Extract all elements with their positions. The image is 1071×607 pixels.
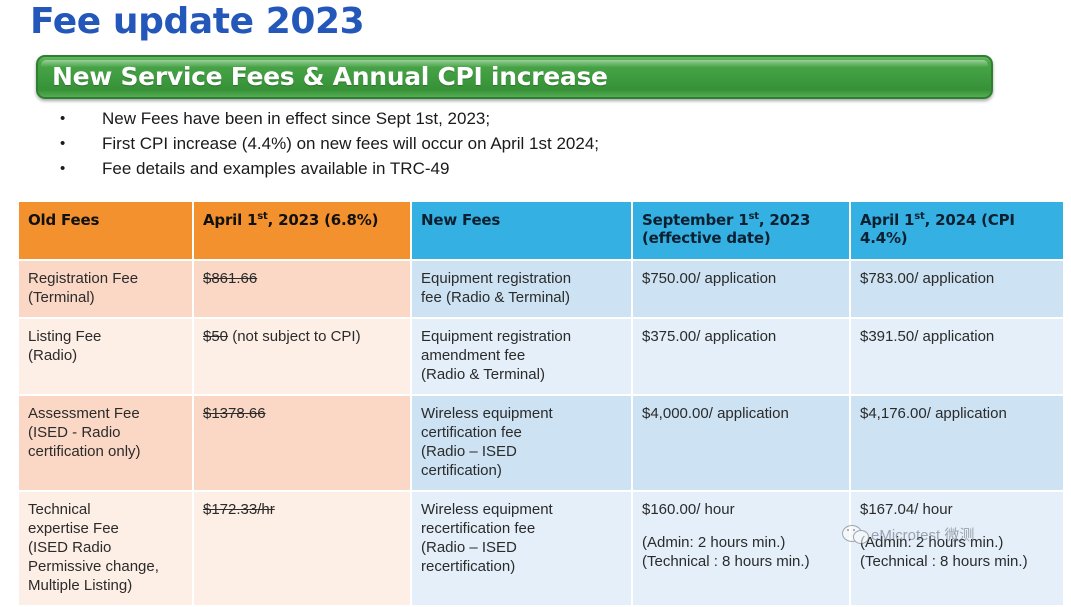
cell-old-fee-name: Registration Fee (Terminal)	[19, 261, 192, 317]
april-price: $391.50/ application	[860, 328, 994, 345]
cell-new-fee-name: Equipment registration fee (Radio & Term…	[412, 261, 631, 317]
cell-april-price: $391.50/ application	[851, 319, 1063, 394]
new-fee-line: Equipment registration	[421, 328, 571, 345]
bullet-list: • New Fees have been in effect since Sep…	[60, 108, 1020, 183]
new-fee-line: recertification fee	[421, 520, 535, 537]
cell-april-price: $4,176.00/ application	[851, 396, 1063, 490]
old-price-struck: $172.33/hr	[203, 501, 275, 518]
old-fee-line: Permissive change,	[28, 558, 159, 575]
table-header-row: Old Fees April 1st, 2023 (6.8%) New Fees…	[19, 202, 1063, 259]
cell-september-price: $750.00/ application	[633, 261, 849, 317]
old-price-struck: $50	[203, 328, 228, 345]
cell-new-fee-name: Equipment registration amendment fee (Ra…	[412, 319, 631, 394]
spacer	[642, 519, 840, 533]
cell-new-fee-name: Wireless equipment certification fee (Ra…	[412, 396, 631, 490]
old-fee-line: (Radio)	[28, 347, 77, 364]
old-fee-line: Listing Fee	[28, 328, 101, 345]
table-row: Technical expertise Fee (ISED Radio Perm…	[19, 492, 1063, 605]
column-header-april-2024: April 1st, 2024 (CPI 4.4%)	[851, 202, 1063, 259]
section-banner: New Service Fees & Annual CPI increase	[36, 55, 993, 99]
new-fee-line: Wireless equipment	[421, 501, 553, 518]
column-header-new-fees: New Fees	[412, 202, 631, 259]
september-note: (Admin: 2 hours min.)	[642, 534, 785, 551]
bullet-dot-icon: •	[60, 133, 102, 155]
table-row: Registration Fee (Terminal) $861.66 Equi…	[19, 261, 1063, 317]
header-text: April 1	[860, 211, 914, 229]
old-fee-line: (ISED - Radio	[28, 424, 121, 441]
header-text: April 1	[203, 211, 257, 229]
header-superscript: st	[914, 211, 924, 222]
old-price-struck: $1378.66	[203, 405, 266, 422]
old-fee-line: certification only)	[28, 443, 141, 460]
september-price: $160.00/ hour	[642, 501, 735, 518]
column-header-april-2023: April 1st, 2023 (6.8%)	[194, 202, 410, 259]
cell-old-fee-name: Assessment Fee (ISED - Radio certificati…	[19, 396, 192, 490]
new-fee-line: certification fee	[421, 424, 522, 441]
cell-september-price: $160.00/ hour (Admin: 2 hours min.) (Tec…	[633, 492, 849, 605]
september-note: (Technical : 8 hours min.)	[642, 553, 810, 570]
old-fee-line: Multiple Listing)	[28, 577, 132, 594]
bullet-dot-icon: •	[60, 158, 102, 180]
old-fee-line: Registration Fee	[28, 270, 138, 287]
cell-old-price: $50 (not subject to CPI)	[194, 319, 410, 394]
bullet-text: New Fees have been in effect since Sept …	[102, 108, 490, 130]
list-item: • New Fees have been in effect since Sep…	[60, 108, 1020, 133]
list-item: • First CPI increase (4.4%) on new fees …	[60, 133, 1020, 158]
cell-april-price: $783.00/ application	[851, 261, 1063, 317]
table-row: Assessment Fee (ISED - Radio certificati…	[19, 396, 1063, 490]
banner-title: New Service Fees & Annual CPI increase	[52, 57, 608, 97]
old-fee-line: Technical	[28, 501, 91, 518]
old-fee-line: (Terminal)	[28, 289, 95, 306]
new-fee-line: Equipment registration	[421, 270, 571, 287]
new-fee-line: Wireless equipment	[421, 405, 553, 422]
bullet-text: Fee details and examples available in TR…	[102, 158, 449, 180]
column-header-old-fees: Old Fees	[19, 202, 192, 259]
cell-old-fee-name: Technical expertise Fee (ISED Radio Perm…	[19, 492, 192, 605]
april-price: $167.04/ hour	[860, 501, 953, 518]
cell-old-price: $1378.66	[194, 396, 410, 490]
old-price-struck: $861.66	[203, 270, 257, 287]
bullet-dot-icon: •	[60, 108, 102, 130]
cell-september-price: $375.00/ application	[633, 319, 849, 394]
old-price-note: (not subject to CPI)	[228, 328, 361, 345]
cell-old-price: $172.33/hr	[194, 492, 410, 605]
april-price: $783.00/ application	[860, 270, 994, 287]
new-fee-line: amendment fee	[421, 347, 525, 364]
header-text: , 2023 (6.8%)	[268, 211, 379, 229]
new-fee-line: (Radio – ISED	[421, 539, 517, 556]
cell-september-price: $4,000.00/ application	[633, 396, 849, 490]
april-price: $4,176.00/ application	[860, 405, 1007, 422]
september-price: $4,000.00/ application	[642, 405, 789, 422]
new-fee-line: recertification)	[421, 558, 515, 575]
spacer	[860, 519, 1054, 533]
september-price: $375.00/ application	[642, 328, 776, 345]
cell-april-price: $167.04/ hour (Admin: 2 hours min.) (Tec…	[851, 492, 1063, 605]
april-note: (Admin: 2 hours min.)	[860, 534, 1003, 551]
new-fee-line: fee (Radio & Terminal)	[421, 289, 570, 306]
new-fee-line: (Radio – ISED	[421, 443, 517, 460]
header-subtext: (effective date)	[642, 229, 771, 247]
list-item: • Fee details and examples available in …	[60, 158, 1020, 183]
bullet-text: First CPI increase (4.4%) on new fees wi…	[102, 133, 599, 155]
april-note: (Technical : 8 hours min.)	[860, 553, 1028, 570]
new-fee-line: certification)	[421, 462, 502, 479]
table-row: Listing Fee (Radio) $50 (not subject to …	[19, 319, 1063, 394]
header-superscript: st	[257, 211, 267, 222]
cell-old-price: $861.66	[194, 261, 410, 317]
new-fee-line: (Radio & Terminal)	[421, 366, 545, 383]
header-text: September 1	[642, 211, 748, 229]
old-fee-line: Assessment Fee	[28, 405, 140, 422]
header-superscript: st	[748, 211, 758, 222]
fee-comparison-table: Old Fees April 1st, 2023 (6.8%) New Fees…	[17, 200, 1065, 607]
header-text: , 2023	[759, 211, 810, 229]
cell-new-fee-name: Wireless equipment recertification fee (…	[412, 492, 631, 605]
old-fee-line: (ISED Radio	[28, 539, 111, 556]
column-header-september-2023: September 1st, 2023(effective date)	[633, 202, 849, 259]
old-fee-line: expertise Fee	[28, 520, 119, 537]
cell-old-fee-name: Listing Fee (Radio)	[19, 319, 192, 394]
september-price: $750.00/ application	[642, 270, 776, 287]
page-title: Fee update 2023	[30, 1, 364, 42]
